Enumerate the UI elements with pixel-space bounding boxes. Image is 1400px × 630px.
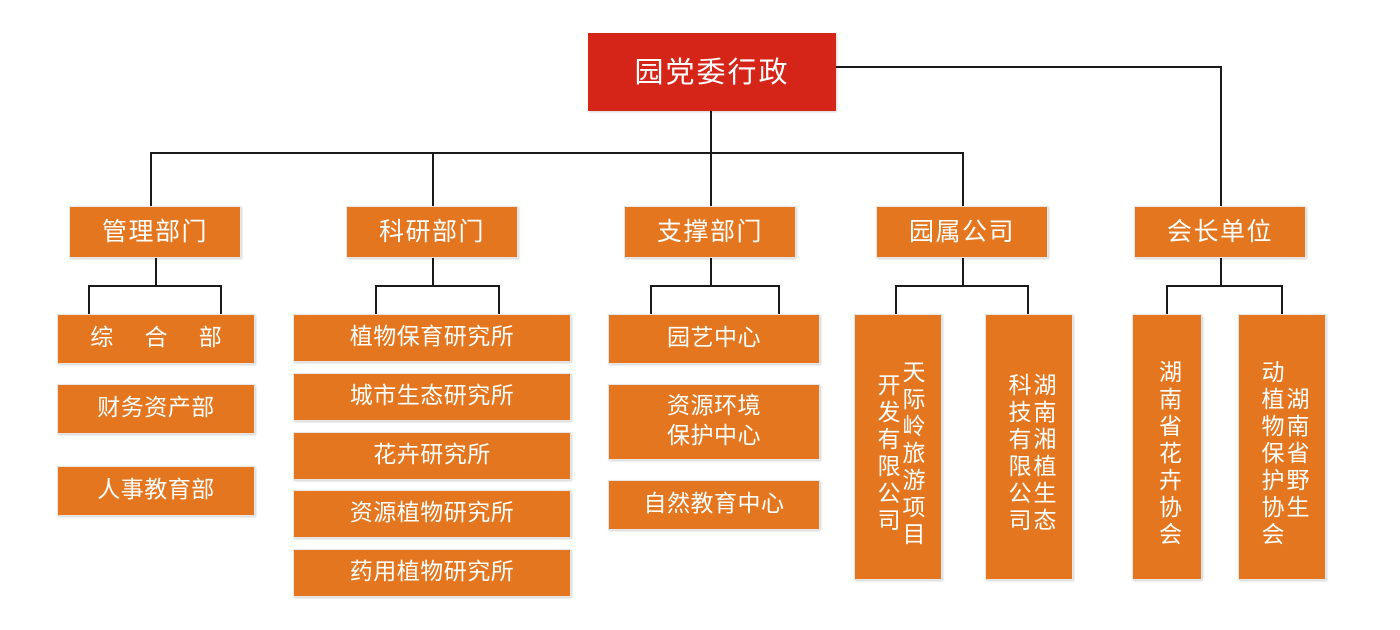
connector-management-right	[220, 285, 222, 314]
node-management-department[interactable]: 管理部门	[69, 206, 241, 258]
vertical-text-column-1: 湖南省野生	[1283, 329, 1306, 579]
connector-subsidiaries-bus	[895, 285, 1029, 287]
node-finance-assets-department[interactable]: 财务资产部	[57, 384, 255, 434]
org-chart-canvas: 园党委行政 管理部门 科研部门 支撑部门 园属公司 会长单位 综 合 部 财务资…	[0, 0, 1400, 630]
connector-subsidiaries-left	[895, 285, 897, 314]
node-nature-education-center[interactable]: 自然教育中心	[608, 480, 820, 530]
node-flower-institute[interactable]: 花卉研究所	[293, 432, 571, 480]
node-resource-environment-protection-center[interactable]: 资源环境 保护中心	[608, 384, 820, 460]
vertical-text-column-1: 湖南湘植生态	[1030, 329, 1053, 579]
connector-drop-chair-units	[1220, 66, 1222, 206]
node-subsidiary-companies[interactable]: 园属公司	[876, 206, 1048, 258]
node-urban-ecology-institute[interactable]: 城市生态研究所	[293, 373, 571, 421]
connector-main-bus	[150, 152, 964, 154]
node-tianjiling-tourism-company[interactable]: 天际岭旅游项目 开发有限公司	[854, 314, 942, 580]
connector-management-bus	[88, 285, 222, 287]
node-medicinal-plant-institute[interactable]: 药用植物研究所	[293, 549, 571, 597]
node-line-1: 资源环境	[667, 392, 761, 422]
node-hunan-xiangzhi-ecology-company[interactable]: 湖南湘植生态 科技有限公司	[985, 314, 1073, 580]
connector-subsidiaries-right	[1027, 285, 1029, 314]
vertical-text-column-2: 动植物保护协会	[1258, 329, 1281, 579]
connector-research-bus	[375, 285, 500, 287]
connector-management-left	[88, 285, 90, 314]
connector-research-stem	[432, 258, 434, 286]
connector-research-left	[375, 285, 377, 314]
connector-root-stem	[710, 110, 712, 154]
connector-root-right-arm	[836, 66, 1222, 68]
node-hunan-flower-association[interactable]: 湖南省花卉协会	[1132, 314, 1202, 580]
vertical-text-column-2: 科技有限公司	[1005, 329, 1028, 579]
connector-chair-units-bus	[1166, 285, 1283, 287]
node-root-party-committee[interactable]: 园党委行政	[588, 33, 836, 111]
connector-drop-support	[710, 152, 712, 206]
node-hunan-wildlife-protection-association[interactable]: 湖南省野生 动植物保护协会	[1238, 314, 1326, 580]
node-support-department[interactable]: 支撑部门	[624, 206, 796, 258]
node-line-2: 保护中心	[667, 422, 761, 452]
connector-research-right	[498, 285, 500, 314]
node-chair-units[interactable]: 会长单位	[1134, 206, 1306, 258]
connector-drop-subsidiaries	[962, 152, 964, 206]
vertical-text-column-1: 湖南省花卉协会	[1156, 329, 1179, 579]
connector-subsidiaries-stem	[962, 258, 964, 286]
connector-support-right	[778, 285, 780, 314]
vertical-text-column-2: 开发有限公司	[874, 329, 897, 579]
node-horticulture-center[interactable]: 园艺中心	[608, 314, 820, 364]
connector-chair-units-right	[1281, 285, 1283, 314]
connector-drop-management	[150, 152, 152, 206]
connector-drop-research	[432, 152, 434, 206]
connector-support-bus	[650, 285, 780, 287]
node-resource-plant-institute[interactable]: 资源植物研究所	[293, 490, 571, 538]
node-plant-conservation-institute[interactable]: 植物保育研究所	[293, 314, 571, 362]
node-hr-education-department[interactable]: 人事教育部	[57, 466, 255, 516]
connector-support-left	[650, 285, 652, 314]
vertical-text-column-1: 天际岭旅游项目	[899, 329, 922, 579]
node-research-department[interactable]: 科研部门	[346, 206, 518, 258]
connector-support-stem	[710, 258, 712, 286]
connector-management-stem	[155, 258, 157, 286]
connector-chair-units-left	[1166, 285, 1168, 314]
connector-chair-units-stem	[1220, 258, 1222, 286]
node-general-office[interactable]: 综 合 部	[57, 314, 255, 364]
